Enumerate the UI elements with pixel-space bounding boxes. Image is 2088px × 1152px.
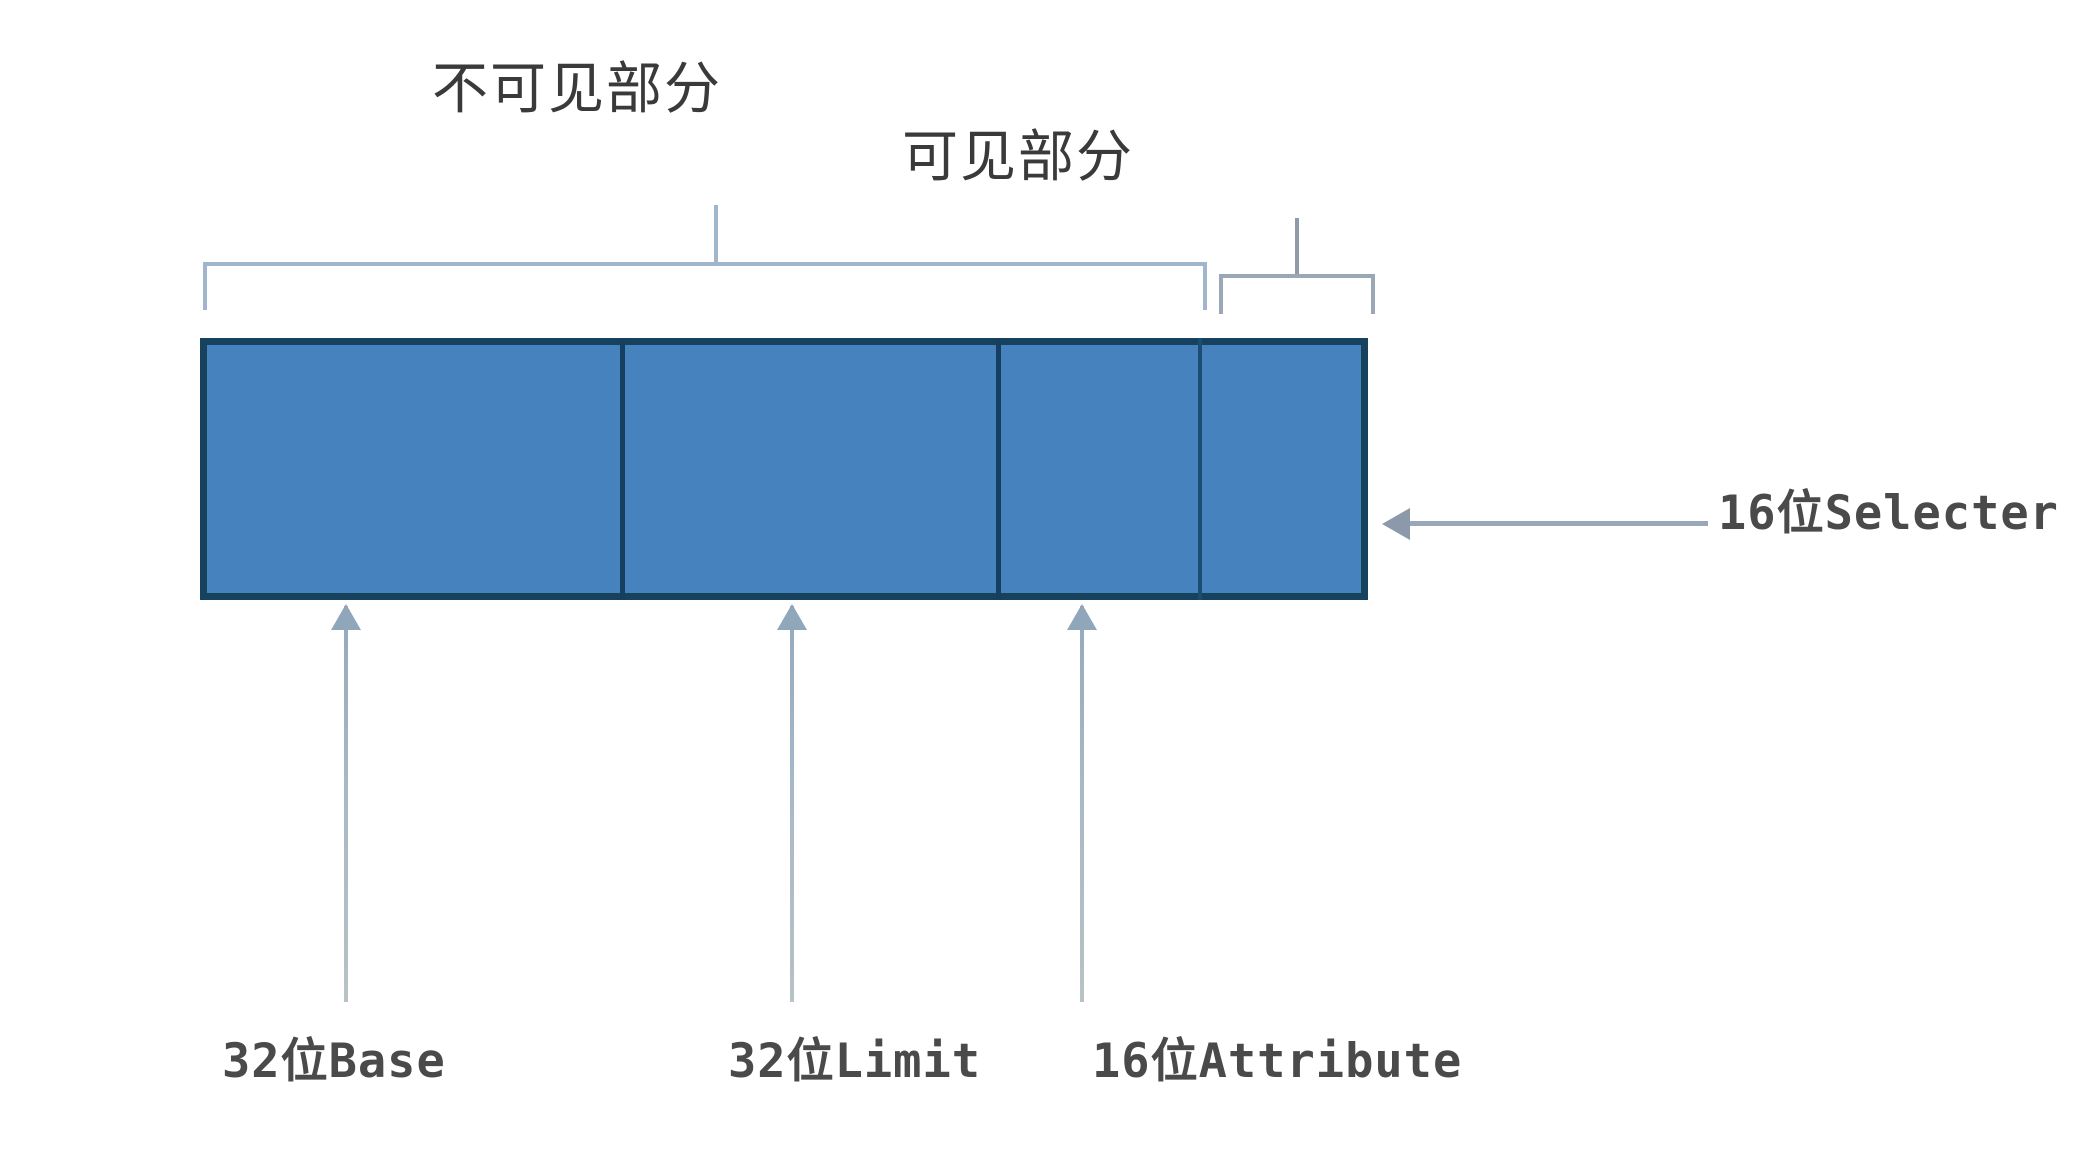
base-field-label: 32位Base [222, 1038, 446, 1085]
limit-field-label: 32位Limit [728, 1038, 981, 1085]
visible-part-stem [1295, 218, 1299, 278]
invisible-part-label: 不可见部分 [432, 62, 722, 118]
diagram-canvas: 不可见部分 可见部分 16位Selecter 32位Base 32位Limit … [0, 0, 2088, 1152]
selector-arrow-icon [1408, 521, 1708, 526]
limit-arrow-icon [790, 606, 794, 1002]
visible-part-label: 可见部分 [902, 130, 1134, 186]
selector-label: 16位Selecter [1718, 490, 2059, 537]
attribute-arrow-icon [1080, 606, 1084, 1002]
descriptor-bar [200, 338, 1368, 600]
invisible-part-bracket [203, 262, 1207, 310]
bar-divider-limit-attribute [996, 338, 1001, 600]
invisible-part-stem [714, 205, 718, 265]
bar-divider-base-limit [620, 338, 625, 600]
base-arrow-icon [344, 606, 348, 1002]
attribute-field-label: 16位Attribute [1092, 1038, 1462, 1085]
bar-divider-attribute-selector [1198, 338, 1202, 600]
visible-part-bracket [1219, 274, 1375, 314]
